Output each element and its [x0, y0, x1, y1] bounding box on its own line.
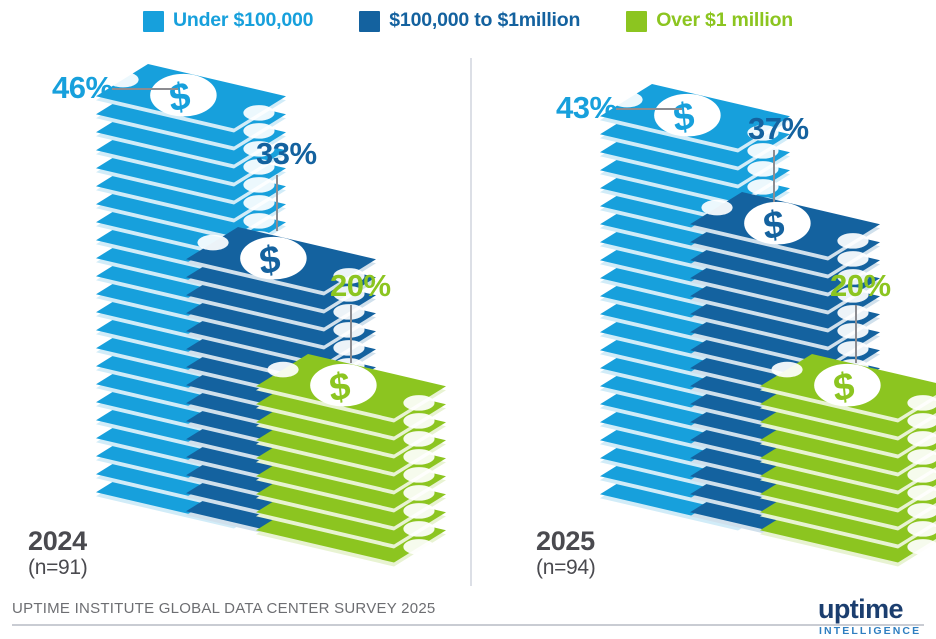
group-divider: [470, 58, 472, 586]
logo-wordmark: uptime: [818, 596, 921, 623]
legend-item-under-100k: Under $100,000: [143, 11, 313, 32]
logo-subtitle: INTELLIGENCE: [819, 626, 921, 637]
group-year-2024: 2024: [28, 527, 88, 555]
leader-line-2024-100k-1m: [276, 175, 278, 231]
group-year-2025: 2025: [536, 527, 596, 555]
value-label-2025-100k-1m: 37%: [748, 113, 809, 144]
bar-2025-over-1m: $: [760, 352, 936, 602]
value-label-2024-over-1m: 20%: [330, 270, 391, 301]
leader-line-2024-under-100k: [112, 88, 178, 90]
legend-label-100k-1m: $100,000 to $1million: [389, 11, 580, 31]
value-label-2025-over-1m: 20%: [830, 270, 891, 301]
footer-divider: [12, 624, 924, 626]
group-n-2024: (n=91): [28, 555, 88, 581]
chart-legend: Under $100,000 $100,000 to $1million Ove…: [0, 4, 936, 38]
bar-2024-over-1m: $: [256, 352, 454, 602]
legend-item-over-1m: Over $1 million: [626, 11, 793, 32]
bar-2024-over-1m-graphic: $: [256, 352, 454, 602]
leader-line-2025-over-1m: [855, 305, 857, 363]
group-label-2025: 2025 (n=94): [536, 527, 596, 582]
value-label-2024-100k-1m: 33%: [256, 138, 317, 169]
legend-swatch-100k-1m: [359, 11, 380, 32]
source-caption: UPTIME INSTITUTE GLOBAL DATA CENTER SURV…: [12, 600, 436, 617]
legend-label-over-1m: Over $1 million: [656, 11, 793, 31]
chart-canvas: Under $100,000 $100,000 to $1million Ove…: [0, 0, 936, 639]
group-n-2025: (n=94): [536, 555, 596, 581]
group-label-2024: 2024 (n=91): [28, 527, 88, 582]
legend-swatch-under-100k: [143, 11, 164, 32]
uptime-intelligence-logo: uptime INTELLIGENCE: [818, 596, 921, 637]
legend-item-100k-1m: $100,000 to $1million: [359, 11, 580, 32]
value-label-2024-under-100k: 46%: [52, 72, 113, 103]
legend-label-under-100k: Under $100,000: [173, 11, 313, 31]
value-label-2025-under-100k: 43%: [556, 92, 617, 123]
bar-2025-over-1m-graphic: $: [760, 352, 936, 602]
leader-line-2024-over-1m: [350, 305, 352, 363]
legend-swatch-over-1m: [626, 11, 647, 32]
leader-line-2025-100k-1m: [773, 150, 775, 202]
leader-line-2025-under-100k: [616, 108, 682, 110]
